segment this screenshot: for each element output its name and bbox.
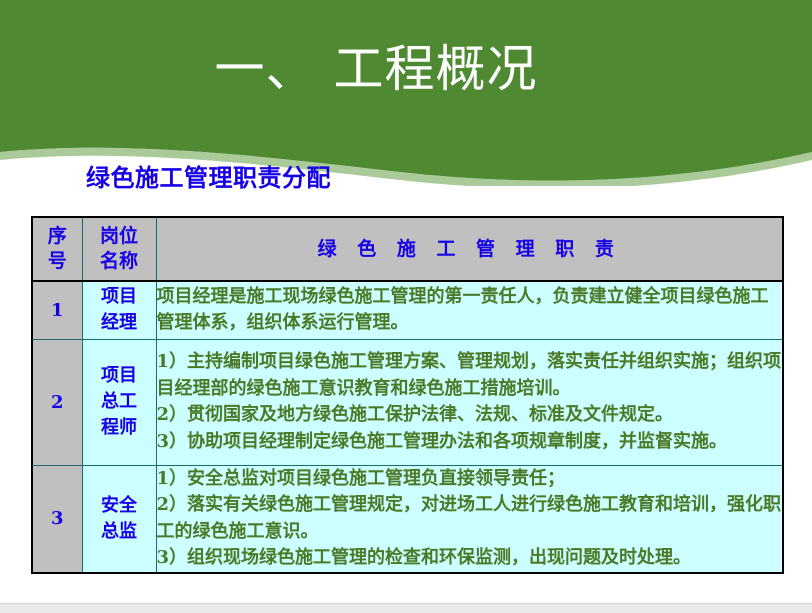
column-header-role: 岗位 名称 <box>82 217 156 281</box>
duty-line: 1）主持编制项目绿色施工管理方案、管理规划，落实责任并组织实施；组织项目经理部的… <box>157 349 783 402</box>
column-header-index: 序 号 <box>32 217 82 281</box>
table-row: 1 项目 经理 项目经理是施工现场绿色施工管理的第一责任人，负责建立健全项目绿色… <box>32 281 783 339</box>
duty-line: 1）安全总监对项目绿色施工管理负直接领导责任； <box>157 466 783 493</box>
table-row: 2 项目 总工 程师 1）主持编制项目绿色施工管理方案、管理规划，落实责任并组织… <box>32 339 783 465</box>
row-index-3: 3 <box>32 465 82 573</box>
row-index-2: 2 <box>32 339 82 465</box>
row-role-3: 安全 总监 <box>82 465 156 573</box>
row-duty-2: 1）主持编制项目绿色施工管理方案、管理规划，落实责任并组织实施；组织项目经理部的… <box>156 339 783 465</box>
responsibility-table: 序 号 岗位 名称 绿 色 施 工 管 理 职 责 1 项目 经理 项目经理是施… <box>31 216 784 574</box>
section-subtitle: 绿色施工管理职责分配 <box>86 163 331 193</box>
table-header-row: 序 号 岗位 名称 绿 色 施 工 管 理 职 责 <box>32 217 783 281</box>
duty-line: 3）组织现场绿色施工管理的检查和环保监测，出现问题及时处理。 <box>157 545 783 572</box>
duty-line: 3）协助项目经理制定绿色施工管理办法和各项规章制度，并监督实施。 <box>157 429 783 456</box>
row-index-1: 1 <box>32 281 82 339</box>
duty-line: 2）落实有关绿色施工管理规定，对进场工人进行绿色施工教育和培训，强化职工的绿色施… <box>157 492 783 545</box>
column-header-duty: 绿 色 施 工 管 理 职 责 <box>156 217 783 281</box>
duty-line: 2）贯彻国家及地方绿色施工保护法律、法规、标准及文件规定。 <box>157 402 783 429</box>
row-duty-1: 项目经理是施工现场绿色施工管理的第一责任人，负责建立健全项目绿色施工管理体系，组… <box>156 281 783 339</box>
table-row: 3 安全 总监 1）安全总监对项目绿色施工管理负直接领导责任； 2）落实有关绿色… <box>32 465 783 573</box>
table-body: 1 项目 经理 项目经理是施工现场绿色施工管理的第一责任人，负责建立健全项目绿色… <box>32 281 783 573</box>
row-role-2: 项目 总工 程师 <box>82 339 156 465</box>
row-duty-3: 1）安全总监对项目绿色施工管理负直接领导责任； 2）落实有关绿色施工管理规定，对… <box>156 465 783 573</box>
duty-line: 项目经理是施工现场绿色施工管理的第一责任人，负责建立健全项目绿色施工管理体系，组… <box>157 284 783 337</box>
bottom-strip <box>0 603 812 613</box>
page-title: 一、 工程概况 <box>0 38 812 100</box>
row-role-1: 项目 经理 <box>82 281 156 339</box>
slide-header-banner: 一、 工程概况 <box>0 0 812 186</box>
